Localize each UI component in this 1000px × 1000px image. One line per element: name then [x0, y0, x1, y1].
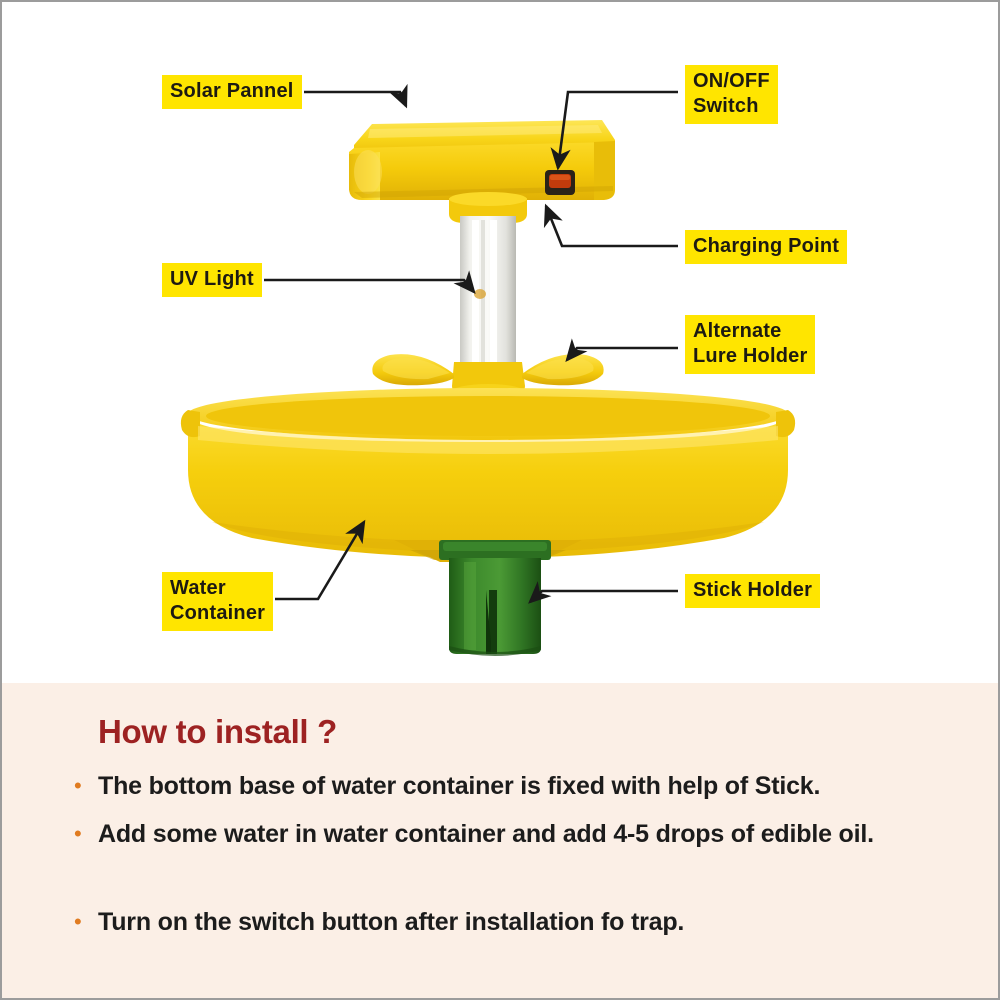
label-water-container[interactable]: Water Container — [162, 572, 273, 631]
label-on-off-switch[interactable]: ON/OFF Switch — [685, 65, 778, 124]
leader-solar-pannel — [304, 92, 406, 106]
page-root: Solar Pannel ON/OFF Switch Charging Poin… — [0, 0, 1000, 1000]
leader-uv-light — [264, 280, 474, 292]
leader-stick-holder — [530, 591, 678, 602]
leader-water-container — [275, 522, 364, 599]
leader-alternate-lure — [567, 348, 678, 360]
instruction-item: • The bottom base of water container is … — [74, 769, 954, 803]
leader-charging-point — [546, 206, 678, 246]
instruction-item: • Add some water in water container and … — [74, 817, 954, 851]
bullet-dot-icon: • — [74, 769, 98, 801]
label-uv-light[interactable]: UV Light — [162, 263, 262, 297]
instruction-text: The bottom base of water container is fi… — [98, 769, 820, 803]
label-charging-point[interactable]: Charging Point — [685, 230, 847, 264]
label-stick-holder[interactable]: Stick Holder — [685, 574, 820, 608]
bullet-dot-icon: • — [74, 817, 98, 849]
instructions-title: How to install ? — [98, 713, 337, 751]
label-solar-pannel[interactable]: Solar Pannel — [162, 75, 302, 109]
instructions-panel: How to install ? • The bottom base of wa… — [2, 683, 998, 998]
instruction-text: Turn on the switch button after installa… — [98, 905, 684, 939]
label-alternate-lure-holder[interactable]: Alternate Lure Holder — [685, 315, 815, 374]
bullet-dot-icon: • — [74, 905, 98, 937]
callout-leader-lines — [2, 2, 998, 683]
instruction-text: Add some water in water container and ad… — [98, 817, 874, 851]
product-diagram-panel: Solar Pannel ON/OFF Switch Charging Poin… — [2, 2, 998, 683]
leader-on-off-switch — [558, 92, 678, 168]
instruction-item: • Turn on the switch button after instal… — [74, 905, 954, 939]
